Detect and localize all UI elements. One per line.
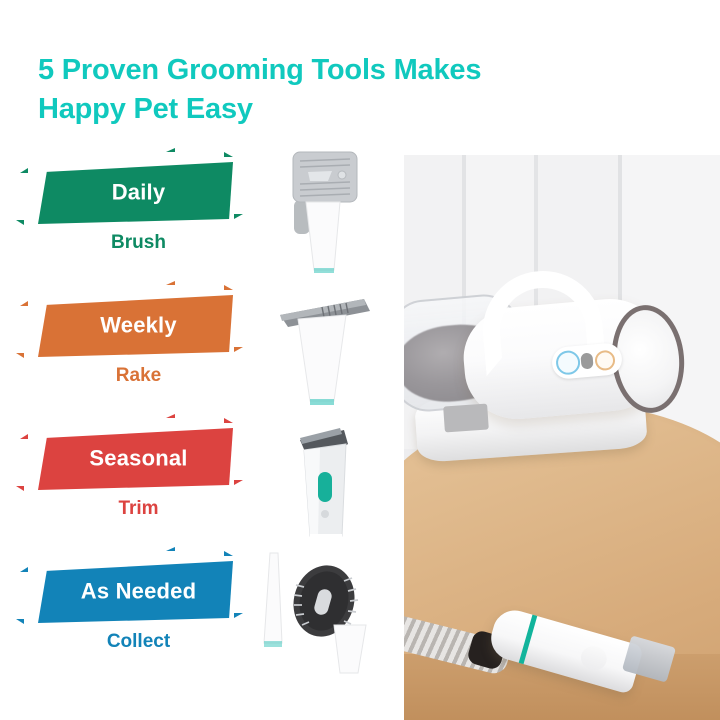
sparkle-icon	[166, 547, 175, 551]
tool-illustration-column	[248, 148, 404, 680]
frequency-banner-daily: Daily	[38, 162, 233, 224]
tool-cell	[248, 281, 404, 414]
action-label: Brush	[38, 232, 233, 254]
frequency-label: Daily	[38, 179, 233, 205]
sparkle-icon	[234, 214, 243, 219]
sparkle-icon	[224, 418, 233, 423]
mode-indicator-icon	[580, 353, 593, 370]
frequency-label: Seasonal	[38, 445, 233, 471]
sparkle-icon	[224, 285, 233, 290]
grooming-brush-attachment-icon	[248, 148, 404, 281]
sparkle-icon	[166, 281, 175, 285]
power-button-icon	[555, 350, 581, 376]
frequency-banner-weekly: Weekly	[38, 295, 233, 357]
sparkle-icon	[20, 567, 28, 572]
sparkle-icon	[20, 301, 28, 306]
action-label: Collect	[38, 631, 233, 653]
frequency-label: Weekly	[38, 312, 233, 338]
action-label: Trim	[38, 498, 233, 520]
sparkle-icon	[166, 148, 175, 152]
infographic-page: 5 Proven Grooming Tools Makes Happy Pet …	[0, 0, 720, 720]
teal-accent-ring	[519, 615, 538, 664]
clipper-trimmer-attachment-icon	[248, 414, 404, 547]
sparkle-icon	[224, 152, 233, 157]
sparkle-icon	[166, 414, 175, 418]
crevice-nozzle-and-bristle-brush-icon	[248, 547, 404, 680]
product-photo	[404, 155, 720, 720]
frequency-label: As Needed	[38, 578, 233, 604]
sparkle-icon	[224, 551, 233, 556]
page-title: 5 Proven Grooming Tools Makes Happy Pet …	[38, 51, 508, 128]
de-shedding-rake-attachment-icon	[248, 281, 404, 414]
trimmer-power-button-icon	[578, 643, 610, 673]
sparkle-icon	[16, 220, 24, 225]
sparkle-icon	[234, 347, 243, 352]
tool-cell	[248, 414, 404, 547]
sparkle-icon	[16, 353, 24, 358]
sparkle-icon	[234, 480, 243, 485]
sparkle-icon	[234, 613, 243, 618]
frequency-banner-seasonal: Seasonal	[38, 428, 233, 490]
tool-cell	[248, 547, 404, 680]
sparkle-icon	[20, 434, 28, 439]
vacuum-vent	[443, 403, 489, 432]
tool-cell	[248, 148, 404, 281]
sparkle-icon	[20, 168, 28, 173]
sparkle-icon	[16, 619, 24, 624]
sparkle-icon	[16, 486, 24, 491]
action-label: Rake	[38, 365, 233, 387]
frequency-banner-as-needed: As Needed	[38, 561, 233, 623]
speed-button-icon	[594, 350, 616, 372]
